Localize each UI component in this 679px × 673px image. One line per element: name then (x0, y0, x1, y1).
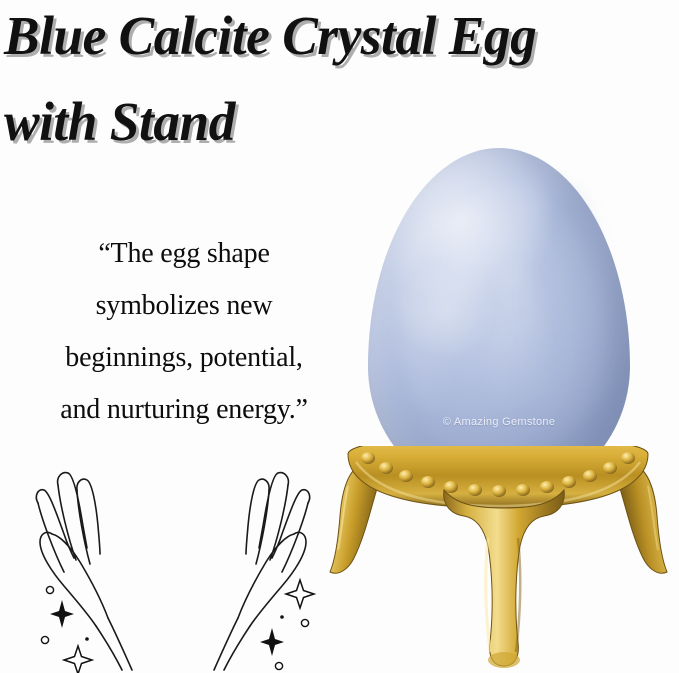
sparkle-circle-icon (46, 586, 53, 593)
sparkle-circle-icon (301, 619, 308, 626)
quote-line-1: “The egg shape (8, 228, 360, 280)
quote-block: “The egg shape symbolizes new beginnings… (8, 228, 360, 436)
quote-line-3: beginnings, potential, (8, 332, 360, 384)
title-line-1: Blue Calcite Crystal Egg (4, 4, 536, 67)
sparkle-star-4-icon (286, 580, 314, 608)
sparkle-dot-icon (85, 637, 89, 641)
sparkle-star-6-icon (260, 628, 284, 656)
product-image-canvas: Blue Calcite Crystal Egg with Stand “The… (0, 0, 679, 673)
sparkle-star-6-icon (50, 600, 74, 628)
stand-leg-front (444, 490, 565, 668)
sparkle-circle-icon (275, 662, 282, 669)
stand-ring (348, 446, 648, 508)
watermark-text: © Amazing Gemstone (368, 416, 630, 428)
quote-line-2: symbolizes new (8, 280, 360, 332)
sparkle-dot-icon (280, 615, 284, 619)
hands-illustration (8, 468, 338, 673)
egg-stand (318, 446, 679, 673)
sparkle-circle-icon (41, 636, 48, 643)
sparkle-group-right (260, 580, 314, 670)
sparkle-star-4-icon (64, 646, 92, 673)
hand-right (214, 473, 310, 670)
hand-left (36, 473, 132, 670)
sparkle-group-left (41, 586, 92, 673)
product-photo: © Amazing Gemstone (318, 130, 679, 673)
title-line-2: with Stand (4, 90, 235, 153)
quote-line-4: and nurturing energy.” (8, 384, 360, 436)
